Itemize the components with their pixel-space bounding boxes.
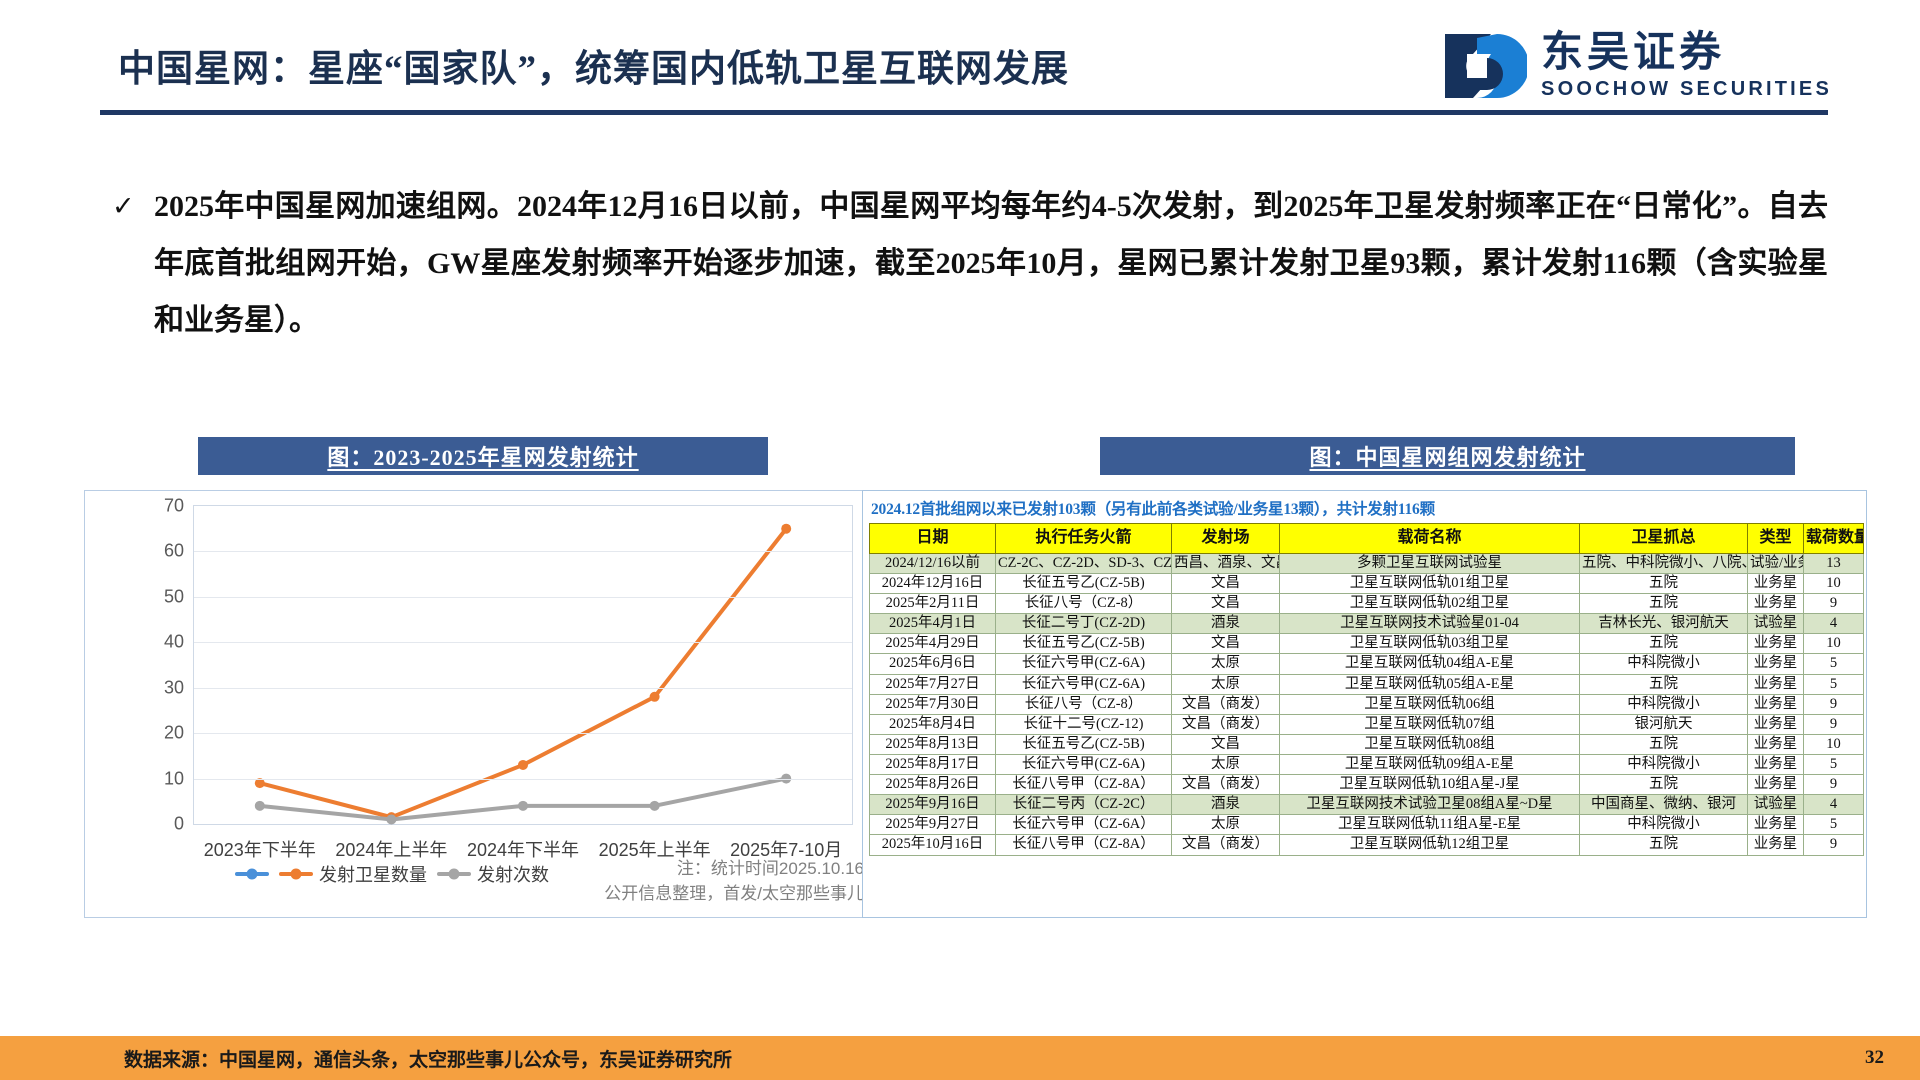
chart-gridline: [194, 688, 852, 689]
table-header-row: 日期执行任务火箭发射场载荷名称卫星抓总类型载荷数量: [870, 524, 1864, 554]
table-cell-site: 太原: [1172, 754, 1280, 774]
table-cell-type: 试验/业务星: [1748, 553, 1804, 573]
table-cell-date: 2025年8月4日: [870, 714, 996, 734]
table-cell-prime: 中科院微小: [1580, 654, 1748, 674]
table-cell-count: 9: [1804, 714, 1864, 734]
table-cell-site: 酒泉: [1172, 795, 1280, 815]
table-cell-prime: 五院: [1580, 674, 1748, 694]
launch-table-panel: 2024.12首批组网以来已发射103颗（另有此前各类试验/业务星13颗），共计…: [862, 490, 1867, 918]
table-row: 2025年2月11日长征八号（CZ-8）文昌卫星互联网低轨02组卫星五院业务星9: [870, 594, 1864, 614]
chart-y-tick-label: 20: [164, 723, 184, 744]
table-cell-payload: 卫星互联网低轨04组A-E星: [1280, 654, 1580, 674]
table-column-header: 发射场: [1172, 524, 1280, 554]
table-cell-payload: 卫星互联网低轨07组: [1280, 714, 1580, 734]
table-row: 2024/12/16以前CZ-2C、CZ-2D、SD-3、CZ-3B、CZ-12…: [870, 553, 1864, 573]
table-cell-count: 4: [1804, 795, 1864, 815]
table-cell-rocket: 长征八号甲（CZ-8A）: [996, 775, 1172, 795]
table-cell-count: 9: [1804, 594, 1864, 614]
table-cell-rocket: 长征六号甲(CZ-6A): [996, 674, 1172, 694]
table-row: 2025年8月4日长征十二号(CZ-12)文昌（商发）卫星互联网低轨07组银河航…: [870, 714, 1864, 734]
figure-title-left: 图：2023-2025年星网发射统计: [198, 437, 768, 475]
legend-item-extra: [235, 872, 269, 876]
table-row: 2025年7月30日长征八号（CZ-8）文昌（商发）卫星互联网低轨06组中科院微…: [870, 694, 1864, 714]
chart-note: 注：统计时间2025.10.16 公开信息整理，首发/太空那些事儿: [564, 857, 864, 906]
table-cell-rocket: 长征六号甲(CZ-6A): [996, 754, 1172, 774]
table-cell-count: 4: [1804, 614, 1864, 634]
table-cell-rocket: 长征八号（CZ-8）: [996, 694, 1172, 714]
table-cell-payload: 卫星互联网低轨12组卫星: [1280, 835, 1580, 855]
table-cell-rocket: 长征二号丙（CZ-2C）: [996, 795, 1172, 815]
table-cell-type: 业务星: [1748, 654, 1804, 674]
table-cell-payload: 卫星互联网低轨06组: [1280, 694, 1580, 714]
bullet-paragraph: 2025年中国星网加速组网。2024年12月16日以前，中国星网平均每年约4-5…: [154, 178, 1828, 349]
table-cell-rocket: 长征五号乙(CZ-5B): [996, 634, 1172, 654]
table-cell-site: 太原: [1172, 674, 1280, 694]
table-cell-count: 9: [1804, 775, 1864, 795]
table-cell-prime: 中科院微小: [1580, 694, 1748, 714]
table-banner: 2024.12首批组网以来已发射103颗（另有此前各类试验/业务星13颗），共计…: [869, 494, 1862, 523]
slide-footer: 数据来源：中国星网，通信头条，太空那些事儿公众号，东吴证券研究所 32: [0, 1036, 1920, 1080]
brand-name-en: SOOCHOW SECURITIES: [1541, 78, 1832, 101]
table-cell-payload: 卫星互联网低轨09组A-E星: [1280, 754, 1580, 774]
table-cell-date: 2025年7月27日: [870, 674, 996, 694]
legend-item: 发射次数: [437, 861, 549, 887]
table-cell-site: 文昌: [1172, 594, 1280, 614]
slide-header: 中国星网：星座“国家队”，统筹国内低轨卫星互联网发展 东吴证券 SOOCHOW …: [0, 0, 1920, 122]
header-divider: [100, 110, 1828, 115]
chart-y-tick-label: 0: [174, 814, 184, 835]
table-cell-rocket: 长征八号甲（CZ-8A）: [996, 835, 1172, 855]
table-cell-date: 2025年9月27日: [870, 815, 996, 835]
table-cell-payload: 卫星互联网技术试验卫星08组A星~D星: [1280, 795, 1580, 815]
table-row: 2025年7月27日长征六号甲(CZ-6A)太原卫星互联网低轨05组A-E星五院…: [870, 674, 1864, 694]
chart-note-line1: 注：统计时间2025.10.16: [564, 857, 864, 882]
launch-table: 日期执行任务火箭发射场载荷名称卫星抓总类型载荷数量 2024/12/16以前CZ…: [869, 523, 1864, 856]
chart-data-point: [650, 801, 660, 811]
legend-marker: [437, 872, 471, 876]
table-column-header: 执行任务火箭: [996, 524, 1172, 554]
checkmark-icon: ✓: [112, 178, 154, 235]
table-column-header: 载荷名称: [1280, 524, 1580, 554]
table-cell-payload: 卫星互联网低轨11组A星-E星: [1280, 815, 1580, 835]
table-row: 2025年6月6日长征六号甲(CZ-6A)太原卫星互联网低轨04组A-E星中科院…: [870, 654, 1864, 674]
chart-series-line: [260, 779, 786, 820]
table-cell-prime: 五院、中科院微小、八院、银河航天: [1580, 553, 1748, 573]
table-cell-type: 业务星: [1748, 714, 1804, 734]
chart-y-tick-label: 30: [164, 677, 184, 698]
table-cell-type: 业务星: [1748, 815, 1804, 835]
table-cell-site: 酒泉: [1172, 614, 1280, 634]
table-cell-date: 2025年2月11日: [870, 594, 996, 614]
table-cell-type: 业务星: [1748, 835, 1804, 855]
table-cell-rocket: 长征二号丁(CZ-2D): [996, 614, 1172, 634]
legend-item: 发射卫星数量: [279, 861, 427, 887]
chart-note-line2: 公开信息整理，首发/太空那些事儿: [564, 882, 864, 907]
table-cell-prime: 中国商星、微纳、银河: [1580, 795, 1748, 815]
table-cell-date: 2025年10月16日: [870, 835, 996, 855]
table-cell-prime: 五院: [1580, 775, 1748, 795]
soochow-logo-icon: [1443, 28, 1527, 104]
table-cell-date: 2025年9月16日: [870, 795, 996, 815]
figure-title-left-label: 图：2023-2025年星网发射统计: [327, 440, 638, 472]
table-cell-payload: 多颗卫星互联网试验星: [1280, 553, 1580, 573]
table-cell-type: 业务星: [1748, 754, 1804, 774]
table-row: 2025年8月17日长征六号甲(CZ-6A)太原卫星互联网低轨09组A-E星中科…: [870, 754, 1864, 774]
table-cell-count: 10: [1804, 734, 1864, 754]
chart-gridline: [194, 779, 852, 780]
table-cell-prime: 五院: [1580, 835, 1748, 855]
table-column-header: 类型: [1748, 524, 1804, 554]
slide: 中国星网：星座“国家队”，统筹国内低轨卫星互联网发展 东吴证券 SOOCHOW …: [0, 0, 1920, 1080]
table-cell-rocket: 长征十二号(CZ-12): [996, 714, 1172, 734]
brand-wordmark: 东吴证券 SOOCHOW SECURITIES: [1541, 31, 1832, 100]
table-row: 2025年4月29日长征五号乙(CZ-5B)文昌卫星互联网低轨03组卫星五院业务…: [870, 634, 1864, 654]
chart-plot-area: 0102030405060702023年下半年2024年上半年2024年下半年2…: [193, 505, 853, 825]
table-row: 2025年9月27日长征六号甲（CZ-6A）太原卫星互联网低轨11组A星-E星中…: [870, 815, 1864, 835]
chart-gridline: [194, 597, 852, 598]
legend-label: 发射次数: [477, 861, 549, 887]
table-cell-date: 2025年8月26日: [870, 775, 996, 795]
table-body: 2024/12/16以前CZ-2C、CZ-2D、SD-3、CZ-3B、CZ-12…: [870, 553, 1864, 855]
table-cell-count: 13: [1804, 553, 1864, 573]
chart-y-tick-label: 60: [164, 541, 184, 562]
chart-y-tick-label: 40: [164, 632, 184, 653]
chart-y-tick-label: 10: [164, 768, 184, 789]
table-cell-date: 2024年12月16日: [870, 573, 996, 593]
table-cell-payload: 卫星互联网低轨10组A星-J星: [1280, 775, 1580, 795]
chart-series-layer: [194, 506, 852, 824]
chart-x-tick-label: 2024年下半年: [467, 836, 579, 862]
table-cell-count: 9: [1804, 835, 1864, 855]
table-cell-site: 太原: [1172, 654, 1280, 674]
table-cell-rocket: 长征八号（CZ-8）: [996, 594, 1172, 614]
table-cell-date: 2025年7月30日: [870, 694, 996, 714]
chart-data-point: [781, 524, 791, 534]
figure-title-right-label: 图：中国星网组网发射统计: [1309, 440, 1585, 472]
page-title: 中国星网：星座“国家队”，统筹国内低轨卫星互联网发展: [118, 38, 1069, 92]
table-cell-prime: 五院: [1580, 594, 1748, 614]
table-cell-date: 2025年4月1日: [870, 614, 996, 634]
table-cell-rocket: 长征六号甲(CZ-6A): [996, 654, 1172, 674]
table-cell-type: 业务星: [1748, 594, 1804, 614]
table-cell-prime: 中科院微小: [1580, 815, 1748, 835]
chart-data-point: [255, 801, 265, 811]
legend-label: 发射卫星数量: [319, 861, 427, 887]
table-cell-count: 5: [1804, 815, 1864, 835]
table-cell-count: 5: [1804, 754, 1864, 774]
table-row: 2025年10月16日长征八号甲（CZ-8A）文昌（商发）卫星互联网低轨12组卫…: [870, 835, 1864, 855]
chart-gridline: [194, 551, 852, 552]
table-cell-type: 业务星: [1748, 634, 1804, 654]
table-cell-payload: 卫星互联网低轨05组A-E星: [1280, 674, 1580, 694]
chart-data-point: [650, 692, 660, 702]
table-cell-date: 2025年8月13日: [870, 734, 996, 754]
table-cell-prime: 中科院微小: [1580, 754, 1748, 774]
footer-source: 数据来源：中国星网，通信头条，太空那些事儿公众号，东吴证券研究所: [124, 1045, 732, 1072]
table-column-header: 卫星抓总: [1580, 524, 1748, 554]
table-cell-prime: 银河航天: [1580, 714, 1748, 734]
table-cell-date: 2024/12/16以前: [870, 553, 996, 573]
table-cell-site: 文昌: [1172, 734, 1280, 754]
table-cell-payload: 卫星互联网低轨03组卫星: [1280, 634, 1580, 654]
table-cell-site: 太原: [1172, 815, 1280, 835]
brand-logo: 东吴证券 SOOCHOW SECURITIES: [1443, 28, 1832, 104]
table-column-header: 载荷数量: [1804, 524, 1864, 554]
table-row: 2025年8月26日长征八号甲（CZ-8A）文昌（商发）卫星互联网低轨10组A星…: [870, 775, 1864, 795]
brand-name-cn: 东吴证券: [1541, 31, 1725, 75]
table-cell-prime: 五院: [1580, 734, 1748, 754]
launch-statistics-chart: 0102030405060702023年下半年2024年上半年2024年下半年2…: [84, 490, 879, 918]
table-cell-site: 文昌（商发）: [1172, 835, 1280, 855]
footer-page-number: 32: [1865, 1047, 1884, 1069]
table-cell-type: 业务星: [1748, 775, 1804, 795]
table-row: 2025年8月13日长征五号乙(CZ-5B)文昌卫星互联网低轨08组五院业务星1…: [870, 734, 1864, 754]
chart-data-point: [255, 778, 265, 788]
table-cell-date: 2025年4月29日: [870, 634, 996, 654]
bullet-item: ✓ 2025年中国星网加速组网。2024年12月16日以前，中国星网平均每年约4…: [112, 178, 1828, 349]
table-cell-count: 5: [1804, 674, 1864, 694]
table-cell-date: 2025年6月6日: [870, 654, 996, 674]
table-cell-payload: 卫星互联网低轨08组: [1280, 734, 1580, 754]
table-cell-rocket: 长征五号乙(CZ-5B): [996, 734, 1172, 754]
table-cell-payload: 卫星互联网低轨01组卫星: [1280, 573, 1580, 593]
table-cell-rocket: 长征六号甲（CZ-6A）: [996, 815, 1172, 835]
chart-x-tick-label: 2023年下半年: [204, 836, 316, 862]
table-row: 2025年4月1日长征二号丁(CZ-2D)酒泉卫星互联网技术试验星01-04吉林…: [870, 614, 1864, 634]
figure-title-right: 图：中国星网组网发射统计: [1100, 437, 1795, 475]
table-cell-type: 业务星: [1748, 674, 1804, 694]
table-cell-type: 试验星: [1748, 614, 1804, 634]
table-cell-count: 10: [1804, 634, 1864, 654]
chart-x-tick-label: 2024年上半年: [335, 836, 447, 862]
table-cell-type: 业务星: [1748, 573, 1804, 593]
chart-gridline: [194, 733, 852, 734]
table-cell-site: 文昌（商发）: [1172, 694, 1280, 714]
chart-data-point: [518, 801, 528, 811]
bullet-block: ✓ 2025年中国星网加速组网。2024年12月16日以前，中国星网平均每年约4…: [112, 178, 1828, 349]
table-cell-prime: 吉林长光、银河航天: [1580, 614, 1748, 634]
legend-marker: [235, 872, 269, 876]
table-cell-site: 西昌、酒泉、文昌等: [1172, 553, 1280, 573]
chart-data-point: [518, 760, 528, 770]
chart-gridline: [194, 642, 852, 643]
table-cell-payload: 卫星互联网低轨02组卫星: [1280, 594, 1580, 614]
table-cell-site: 文昌（商发）: [1172, 775, 1280, 795]
table-cell-payload: 卫星互联网技术试验星01-04: [1280, 614, 1580, 634]
table-column-header: 日期: [870, 524, 996, 554]
table-cell-rocket: CZ-2C、CZ-2D、SD-3、CZ-3B、CZ-12: [996, 553, 1172, 573]
chart-data-point: [386, 814, 396, 824]
table-row: 2024年12月16日长征五号乙(CZ-5B)文昌卫星互联网低轨01组卫星五院业…: [870, 573, 1864, 593]
chart-series-line: [260, 529, 786, 817]
table-row: 2025年9月16日长征二号丙（CZ-2C）酒泉卫星互联网技术试验卫星08组A星…: [870, 795, 1864, 815]
legend-marker: [279, 872, 313, 876]
table-cell-site: 文昌（商发）: [1172, 714, 1280, 734]
table-cell-site: 文昌: [1172, 634, 1280, 654]
table-cell-type: 试验星: [1748, 795, 1804, 815]
table-cell-prime: 五院: [1580, 573, 1748, 593]
table-cell-rocket: 长征五号乙(CZ-5B): [996, 573, 1172, 593]
table-cell-site: 文昌: [1172, 573, 1280, 593]
table-cell-count: 5: [1804, 654, 1864, 674]
table-cell-type: 业务星: [1748, 694, 1804, 714]
table-cell-type: 业务星: [1748, 734, 1804, 754]
table-cell-prime: 五院: [1580, 634, 1748, 654]
table-cell-count: 10: [1804, 573, 1864, 593]
chart-y-tick-label: 70: [164, 496, 184, 517]
table-cell-date: 2025年8月17日: [870, 754, 996, 774]
table-cell-count: 9: [1804, 694, 1864, 714]
chart-y-tick-label: 50: [164, 586, 184, 607]
